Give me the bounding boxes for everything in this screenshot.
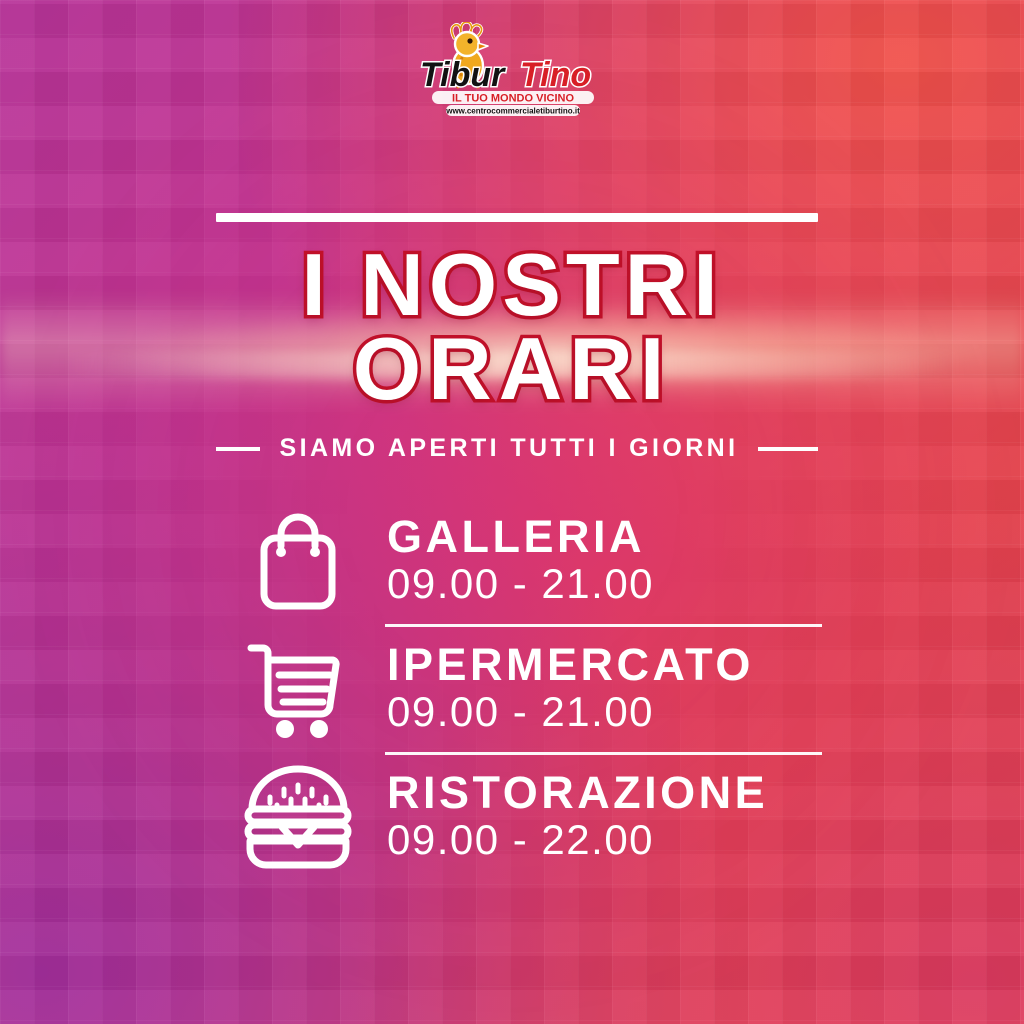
subtitle-rule-right: [758, 447, 818, 451]
schedule-row-galleria: GALLERIA 09.00 - 21.00: [210, 496, 822, 624]
schedule-hours: 09.00 - 22.00: [387, 817, 822, 862]
schedule-list: GALLERIA 09.00 - 21.00 IPERMERCATO 09.00…: [210, 496, 822, 880]
headline-top-rule: [216, 213, 818, 222]
logo-tagline: IL TUO MONDO VICINO: [452, 93, 574, 105]
headline-line-2: ORARI: [0, 327, 1024, 411]
schedule-hours: 09.00 - 21.00: [387, 561, 822, 606]
logo-word-tino: Tino: [520, 56, 591, 94]
subtitle-rule-left: [216, 447, 260, 451]
logo-word-tibur: Tibur: [420, 56, 506, 94]
burger-icon: [210, 761, 385, 871]
brand-logo[interactable]: Tibur Tino IL TUO MONDO VICINO www.centr…: [407, 22, 617, 118]
subtitle-row: SIAMO APERTI TUTTI I GIORNI: [216, 434, 818, 463]
shopping-bag-icon: [210, 505, 385, 615]
schedule-row-ristorazione: RISTORAZIONE 09.00 - 22.00: [210, 752, 822, 880]
schedule-name: IPERMERCATO: [387, 642, 822, 688]
page-title: I NOSTRI ORARI: [0, 243, 1024, 412]
poster-canvas: Tibur Tino IL TUO MONDO VICINO www.centr…: [0, 0, 1024, 1024]
schedule-hours: 09.00 - 21.00: [387, 689, 822, 734]
schedule-text-ristorazione: RISTORAZIONE 09.00 - 22.00: [385, 770, 822, 862]
tiburtino-logo-icon: Tibur Tino IL TUO MONDO VICINO www.centr…: [412, 22, 612, 118]
schedule-text-galleria: GALLERIA 09.00 - 21.00: [385, 514, 822, 606]
logo-website: www.centrocommercialetiburtino.it: [445, 106, 580, 115]
subtitle-text: SIAMO APERTI TUTTI I GIORNI: [276, 434, 742, 463]
shopping-cart-icon: [210, 633, 385, 743]
schedule-row-ipermercato: IPERMERCATO 09.00 - 21.00: [210, 624, 822, 752]
schedule-name: RISTORAZIONE: [387, 770, 822, 816]
schedule-name: GALLERIA: [387, 514, 822, 560]
schedule-text-ipermercato: IPERMERCATO 09.00 - 21.00: [385, 642, 822, 734]
